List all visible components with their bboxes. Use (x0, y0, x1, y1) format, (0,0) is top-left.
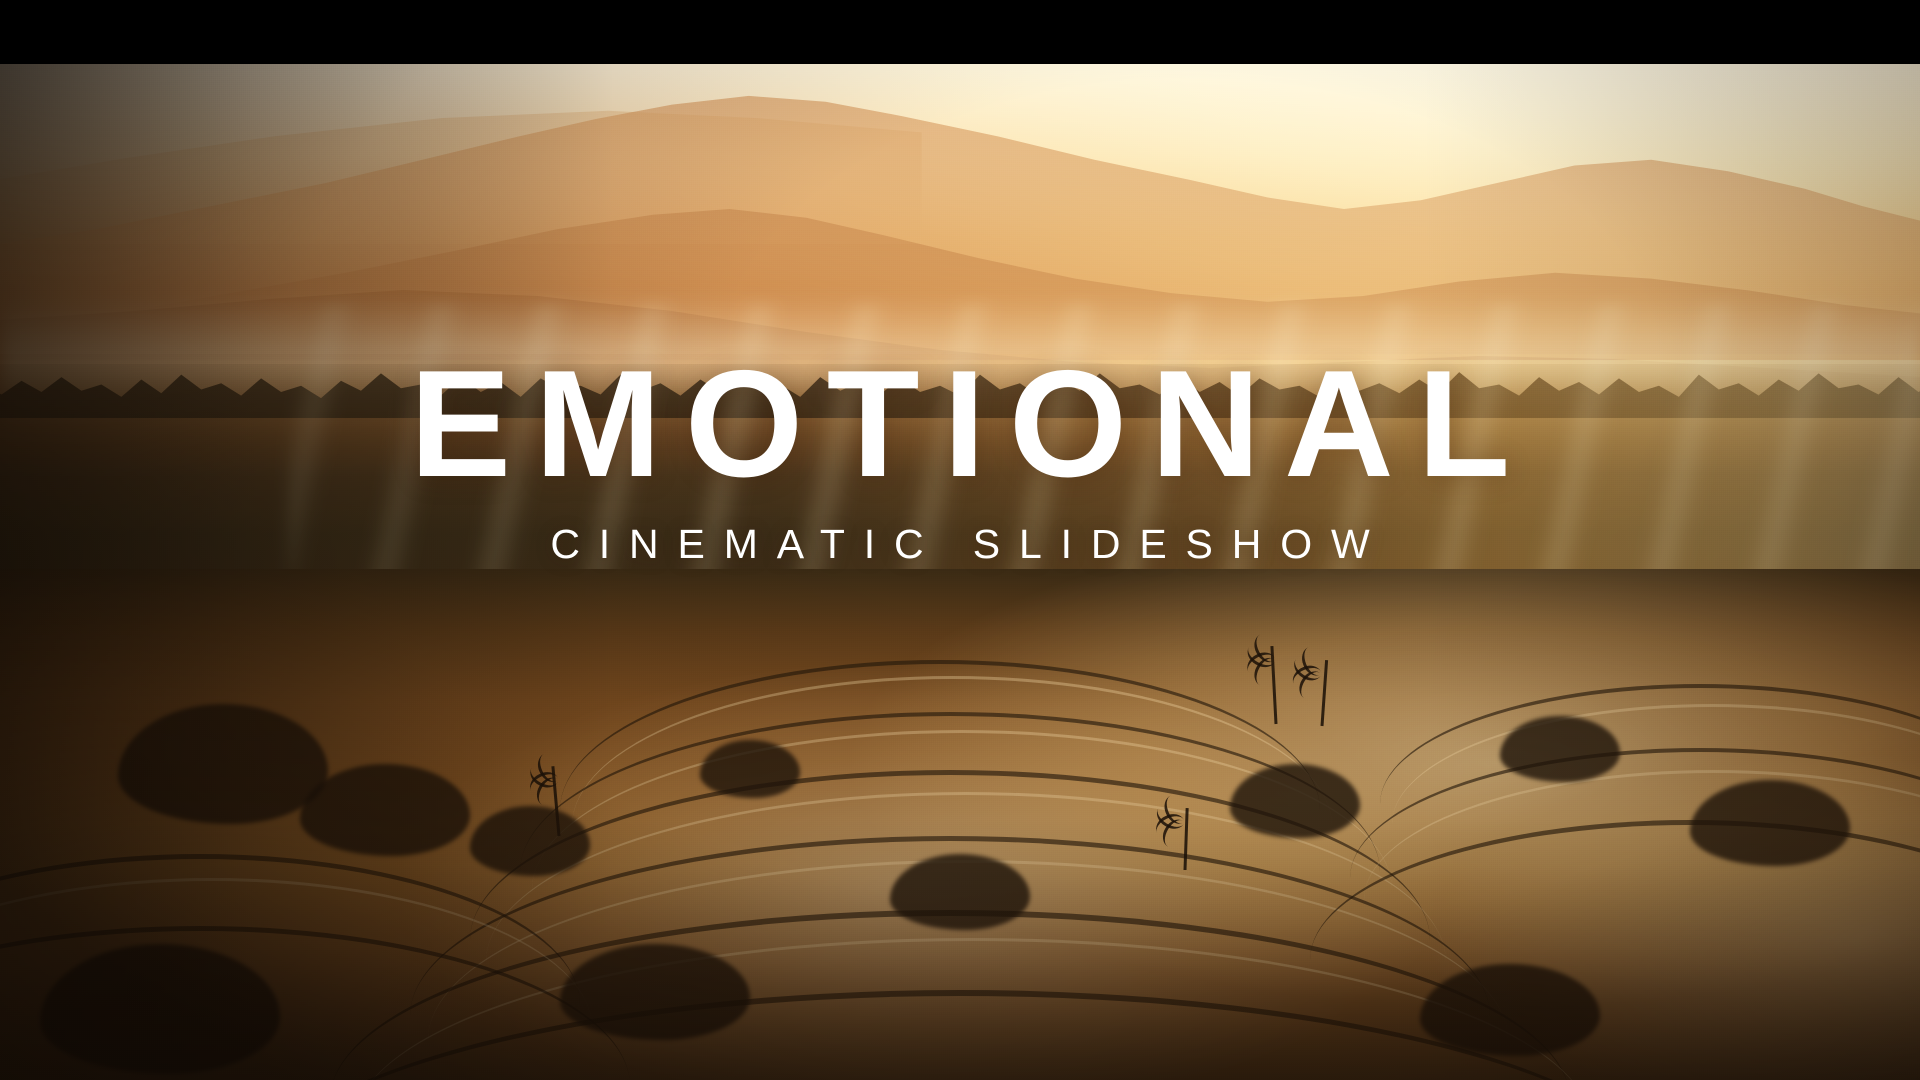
letterbox-bar-top (0, 0, 1920, 64)
film-grain-overlay (0, 64, 1920, 1080)
slideshow-slide: EMOTIONAL CINEMATIC SLIDESHOW (0, 0, 1920, 1080)
background-photograph (0, 64, 1920, 1080)
